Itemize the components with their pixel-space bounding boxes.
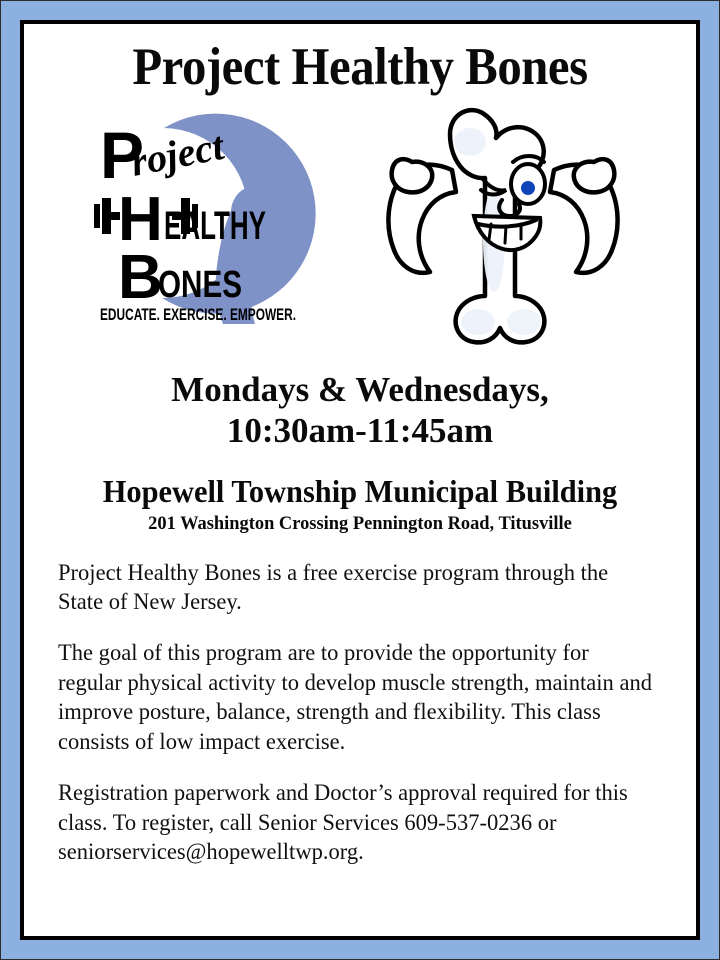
paragraph-registration: Registration paperwork and Doctor’s appr…	[58, 778, 654, 866]
schedule-time: 10:30am-11:45am	[44, 411, 676, 452]
bone-mascot-illustration	[378, 100, 628, 362]
flyer-card: Project Healthy Bones P roject	[20, 20, 700, 940]
body-copy: Project Healthy Bones is a free exercise…	[44, 558, 676, 867]
logo-word-healthy: EALTHY	[164, 204, 266, 248]
schedule-days: Mondays & Wednesdays,	[44, 370, 676, 411]
mascot-left-fist	[392, 159, 433, 192]
venue-address: 201 Washington Crossing Pennington Road,…	[53, 513, 666, 536]
page-title: Project Healthy Bones	[69, 40, 650, 96]
paragraph-program-goals: The goal of this program are to provide …	[58, 638, 654, 756]
project-healthy-bones-logo: P roject H EALTHY B ONES	[92, 100, 342, 345]
logo-letter-b: B	[118, 243, 163, 312]
flyer-poster: Project Healthy Bones P roject	[0, 0, 720, 960]
artwork-row: P roject H EALTHY B ONES	[44, 100, 676, 368]
venue-name: Hopewell Township Municipal Building	[60, 474, 660, 509]
logo-word-bones: ONES	[158, 264, 242, 306]
mascot-right-fist	[574, 159, 615, 192]
schedule-block: Mondays & Wednesdays, 10:30am-11:45am	[44, 370, 676, 452]
mascot-pupil	[521, 181, 535, 195]
paragraph-program-intro: Project Healthy Bones is a free exercise…	[58, 558, 654, 617]
logo-tagline: EDUCATE. EXERCISE. EMPOWER.	[100, 305, 296, 324]
